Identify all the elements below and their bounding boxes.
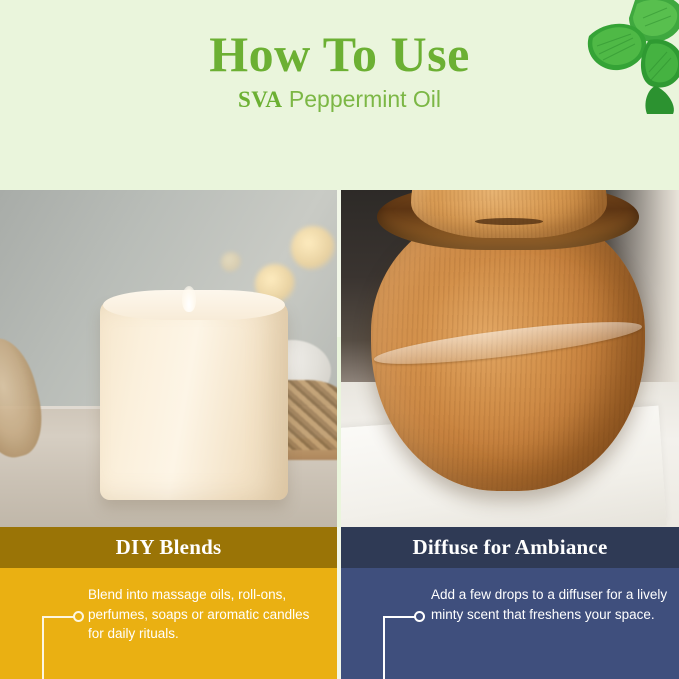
how-to-use-infographic: How To Use SVA Peppermint Oil [0,0,679,679]
panel-divider [337,527,341,679]
connector-dot-icon [414,611,425,622]
diffuser-mist-slot [475,218,543,225]
oil-diffuser [363,190,653,494]
connector-horizontal [42,616,75,618]
banner-diffuse-ambiance: Diffuse for Ambiance [341,527,679,568]
connector-line [40,581,86,679]
connector-vertical [383,616,385,679]
banner-label: DIY Blends [116,535,222,560]
panel-diy-blends: Blend into massage oils, roll-ons, perfu… [0,568,337,679]
panel-body-text: Blend into massage oils, roll-ons, perfu… [88,585,320,644]
candle-scene [0,190,337,527]
product-name: Peppermint Oil [289,86,441,112]
connector-vertical [42,616,44,679]
candle-flame [182,286,196,312]
diffuse-ambiance-photo [341,190,679,527]
panel-body-text: Add a few drops to a diffuser for a live… [431,585,669,624]
connector-line [381,581,427,679]
banner-label: Diffuse for Ambiance [413,535,608,560]
bokeh-light [291,226,335,270]
banner-diy-blends: DIY Blends [0,527,337,568]
pillar-candle-front [100,300,288,500]
brand-name: SVA [238,87,283,112]
diy-blends-photo [0,190,337,527]
bokeh-light [221,252,241,272]
diffuser-scene [341,190,679,527]
panel-diffuse-ambiance: Add a few drops to a diffuser for a live… [341,568,679,679]
connector-dot-icon [73,611,84,622]
connector-horizontal [383,616,416,618]
mint-leaves-icon [563,0,679,114]
